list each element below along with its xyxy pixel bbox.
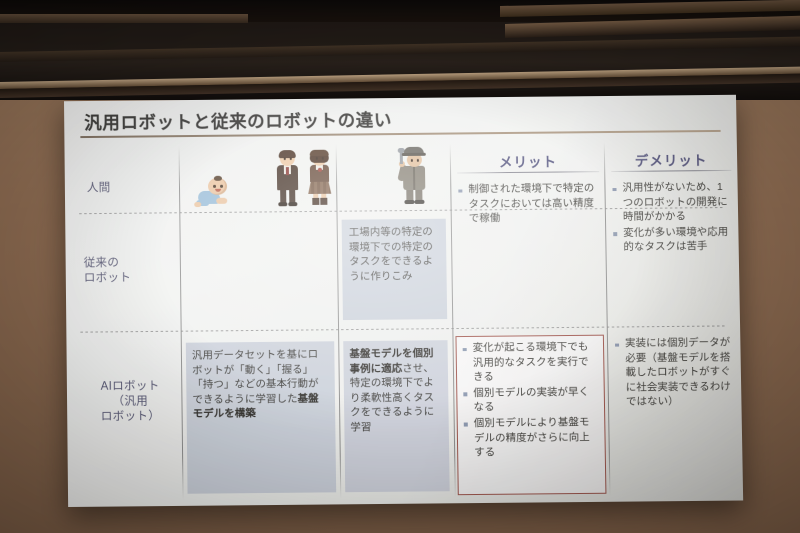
row-label-legacy-line1: 従来の xyxy=(84,257,120,269)
ai-demerit-item-1: 実装には個別データが必要（基盤モデルを搭載したロボットがすぐに社会実装できるわけ… xyxy=(614,336,736,411)
illustration-schoolgirl xyxy=(305,150,338,210)
row-label-human: 人間 xyxy=(87,180,171,196)
ai-desc-a-plain2: した xyxy=(276,394,297,405)
row-label-legacy-robot: 従来の ロボット xyxy=(84,255,177,286)
column-header-demerit: デメリット xyxy=(609,149,733,170)
ai-merit-item-2: 個別モデルの実装が早くなる xyxy=(462,386,599,417)
illustration-baby-crawling xyxy=(194,176,234,210)
projected-slide: 汎用ロボットと従来のロボットの違い メリット デメリット 人間 xyxy=(64,95,743,507)
slide-surface: 汎用ロボットと従来のロボットの違い メリット デメリット 人間 xyxy=(64,95,743,507)
legacy-merit-list: 制御された環境下で特定のタスクにおいては高い精度で稼働 xyxy=(457,182,600,228)
legacy-description-text: 工場内等の特定の環境下での特定のタスクをできるように作りこみ xyxy=(349,226,442,285)
row-label-ai-line2: （汎用 xyxy=(112,395,148,407)
row-label-legacy-line2: ロボット xyxy=(84,272,131,285)
column-divider-3 xyxy=(450,144,456,498)
row-label-ai-line3: ロボット） xyxy=(101,410,160,423)
column-header-merit: メリット xyxy=(455,150,601,171)
row-label-ai-line1: AIロボット xyxy=(101,380,160,393)
legacy-merit-item-1: 制御された環境下で特定のタスクにおいては高い精度で稼働 xyxy=(457,182,600,227)
legacy-demerit-item-2: 変化が多い環境や応用的なタスクは苦手 xyxy=(612,226,733,256)
ai-merit-item-3: 個別モデルにより基盤モデルの精度がさらに向上する xyxy=(463,416,600,461)
legacy-demerit-item-1: 汎用性がないため、1つのロボットの開発に時間がかかる xyxy=(611,181,732,226)
ai-merit-list: 変化が起こる環境下でも汎用的なタスクを実行できる 個別モデルの実装が早くなる 個… xyxy=(462,341,600,463)
ceiling-beam-left xyxy=(0,14,248,23)
row-label-ai-robot: AIロボット （汎用 ロボット） xyxy=(81,379,180,425)
ai-desc-b-bold2: 応 xyxy=(392,363,403,374)
column-divider-1 xyxy=(179,146,184,500)
room-photo-scene: 汎用ロボットと従来のロボットの違い メリット デメリット 人間 xyxy=(0,0,800,533)
row-separator-2 xyxy=(80,325,726,332)
ai-description-a-text: 汎用データセットを基にロボットが「動く」「握る」「持つ」などの基本行動ができるよ… xyxy=(192,348,329,423)
illustration-worker-with-wrench xyxy=(399,147,434,209)
ai-description-b-text: 基盤モデルを個別事例に適応させ、特定の環境下でより柔軟性高くタスクをできるように… xyxy=(349,347,444,436)
illustration-schoolboy xyxy=(273,150,306,210)
column-header-merit-underline xyxy=(457,171,599,173)
ai-merit-item-1: 変化が起こる環境下でも汎用的なタスクを実行できる xyxy=(462,341,599,386)
legacy-demerit-list: 汎用性がないため、1つのロボットの開発に時間がかかる 変化が多い環境や応用的なタ… xyxy=(611,181,732,257)
ai-demerit-list: 実装には個別データが必要（基盤モデルを搭載したロボットがすぐに社会実装できるわけ… xyxy=(614,336,736,412)
comparison-grid: メリット デメリット 人間 xyxy=(64,137,743,507)
slide-title: 汎用ロボットと従来のロボットの違い xyxy=(84,107,392,135)
column-header-demerit-underline xyxy=(611,170,731,172)
